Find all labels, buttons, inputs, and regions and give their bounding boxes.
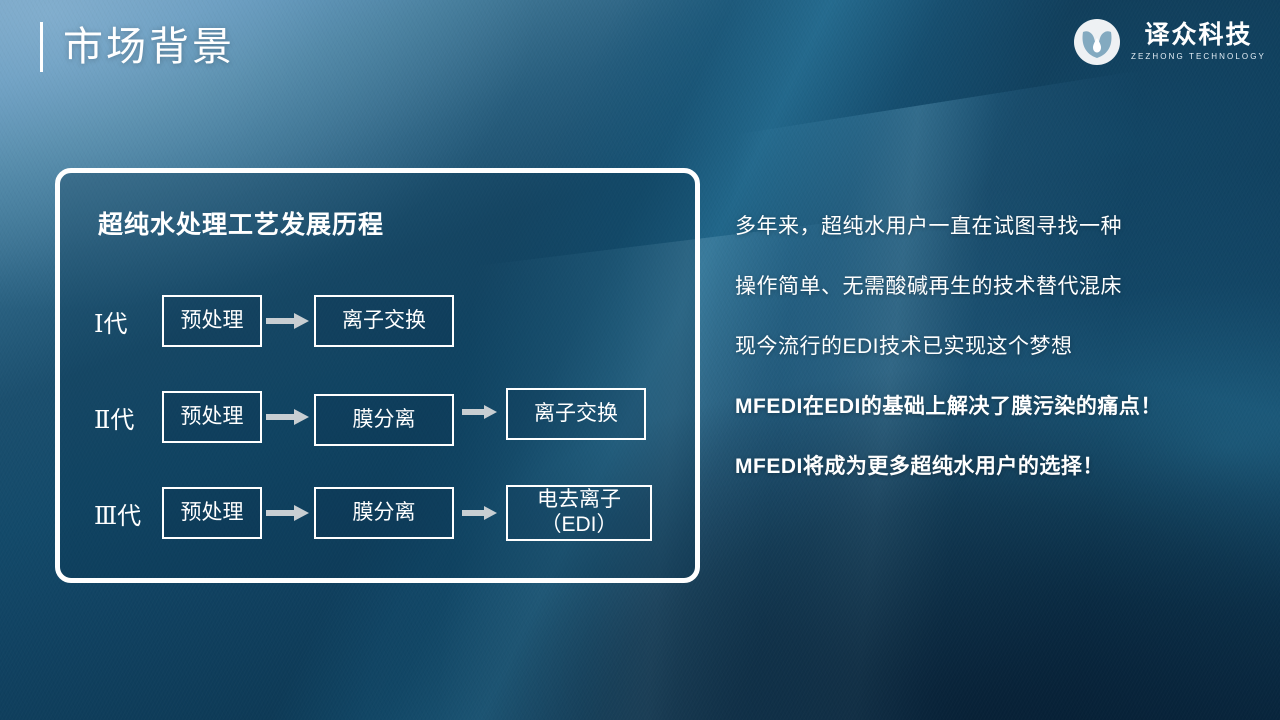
logo-name-en: ZEZHONG TECHNOLOGY — [1131, 53, 1266, 61]
page-title: 市场背景 — [40, 22, 235, 72]
slide-root: 市场背景 译众科技 ZEZHONG TECHNOLOGY 超纯水处理工艺发展历程… — [0, 0, 1280, 720]
title-accent-bar — [40, 22, 43, 72]
arrow-icon — [262, 504, 314, 522]
copy-line-2: 操作简单、无需酸碱再生的技术替代混床 — [735, 276, 1255, 297]
node-gen3-edi: 电去离子 （EDI） — [506, 485, 652, 541]
node-gen2-membrane-separation: 膜分离 — [314, 394, 454, 446]
summary-text-block: 多年来，超纯水用户一直在试图寻找一种 操作简单、无需酸碱再生的技术替代混床 现今… — [735, 216, 1255, 477]
flow-row-gen3: Ⅲ代 预处理 膜分离 电去离子 （EDI） — [88, 465, 677, 561]
arrow-icon — [262, 312, 314, 330]
card-title: 超纯水处理工艺发展历程 — [98, 205, 384, 241]
node-gen3-pretreatment: 预处理 — [162, 487, 262, 539]
title-label: 市场背景 — [63, 27, 235, 67]
node-gen2-ion-exchange: 离子交换 — [506, 388, 646, 440]
logo-wordmark: 译众科技 ZEZHONG TECHNOLOGY — [1131, 23, 1266, 61]
node-gen3-edi-line2: （EDI） — [540, 513, 617, 538]
arrow-icon — [262, 408, 314, 426]
flow-row-gen1: Ⅰ代 预处理 离子交换 — [88, 273, 677, 369]
copy-line-1: 多年来，超纯水用户一直在试图寻找一种 — [735, 216, 1255, 237]
arrow-icon — [454, 505, 506, 521]
node-gen3-edi-line1: 电去离子 — [537, 488, 621, 513]
brand-logo: 译众科技 ZEZHONG TECHNOLOGY — [1073, 18, 1266, 66]
gen-label-2: Ⅱ代 — [88, 400, 162, 435]
process-flow-diagram: Ⅰ代 预处理 离子交换 Ⅱ代 预处理 膜分离 — [88, 273, 677, 561]
water-droplet-logo-icon — [1073, 18, 1121, 66]
copy-line-3: 现今流行的EDI技术已实现这个梦想 — [735, 336, 1255, 357]
flow-row-gen2: Ⅱ代 预处理 膜分离 离子交换 — [88, 369, 677, 465]
copy-line-4: MFEDI在EDI的基础上解决了膜污染的痛点！ — [735, 396, 1255, 417]
node-gen1-pretreatment: 预处理 — [162, 295, 262, 347]
copy-line-5: MFEDI将成为更多超纯水用户的选择！ — [735, 456, 1255, 477]
gen-label-1: Ⅰ代 — [88, 304, 162, 339]
logo-name-cn: 译众科技 — [1144, 23, 1252, 48]
node-gen1-ion-exchange: 离子交换 — [314, 295, 454, 347]
node-gen3-membrane-separation: 膜分离 — [314, 487, 454, 539]
arrow-icon — [454, 404, 506, 420]
process-history-card: 超纯水处理工艺发展历程 Ⅰ代 预处理 离子交换 Ⅱ代 预处理 — [55, 168, 700, 583]
gen-label-3: Ⅲ代 — [88, 496, 162, 531]
node-gen2-pretreatment: 预处理 — [162, 391, 262, 443]
